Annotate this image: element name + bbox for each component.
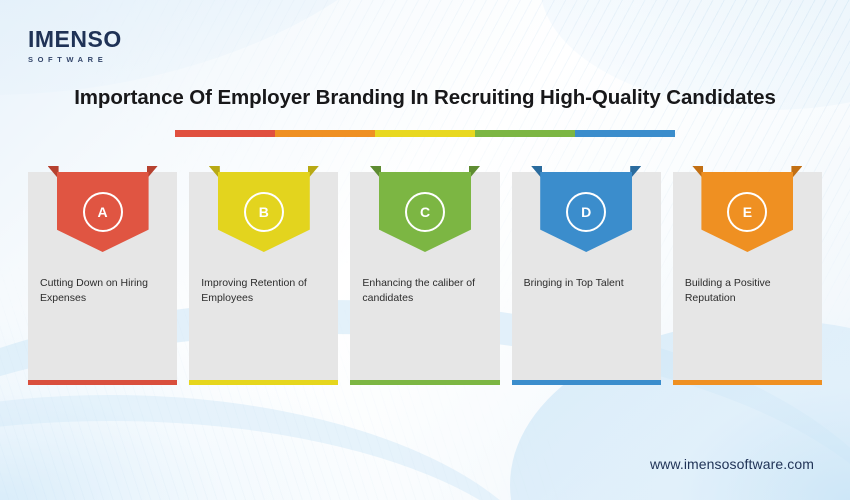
footer-website-url: www.imensosoftware.com bbox=[650, 456, 814, 472]
ribbon-banner-icon: B bbox=[218, 166, 310, 252]
divider-segment-4 bbox=[475, 130, 575, 137]
ribbon-banner-icon: D bbox=[540, 166, 632, 252]
card-accent-bar bbox=[512, 380, 661, 385]
ribbon-banner-icon: C bbox=[379, 166, 471, 252]
letter-badge-label: D bbox=[581, 205, 591, 219]
divider-segment-5 bbox=[575, 130, 675, 137]
card-d[interactable]: DBringing in Top Talent bbox=[512, 172, 661, 385]
divider-segment-1 bbox=[175, 130, 275, 137]
cards-row: ACutting Down on Hiring ExpensesBImprovi… bbox=[28, 172, 822, 385]
letter-badge-label: C bbox=[420, 205, 430, 219]
letter-badge: B bbox=[244, 192, 284, 232]
card-label: Building a Positive Reputation bbox=[673, 276, 822, 306]
ribbon-banner-icon: E bbox=[701, 166, 793, 252]
brand-logo-name: IMENSO bbox=[28, 28, 122, 51]
background-swoosh-bottom-left-2 bbox=[0, 395, 560, 500]
card-label: Improving Retention of Employees bbox=[189, 276, 338, 306]
card-accent-bar bbox=[28, 380, 177, 385]
card-label: Enhancing the caliber of candidates bbox=[350, 276, 499, 306]
ribbon-banner-icon: A bbox=[57, 166, 149, 252]
divider-segment-3 bbox=[375, 130, 475, 137]
page-title: Importance Of Employer Branding In Recru… bbox=[0, 86, 850, 110]
card-c[interactable]: CEnhancing the caliber of candidates bbox=[350, 172, 499, 385]
card-e[interactable]: EBuilding a Positive Reputation bbox=[673, 172, 822, 385]
card-a[interactable]: ACutting Down on Hiring Expenses bbox=[28, 172, 177, 385]
color-divider-bar bbox=[175, 130, 675, 137]
brand-logo-tagline: SOFTWARE bbox=[28, 56, 122, 64]
divider-segment-2 bbox=[275, 130, 375, 137]
letter-badge-label: A bbox=[98, 205, 108, 219]
letter-badge: D bbox=[566, 192, 606, 232]
brand-logo: IMENSO SOFTWARE bbox=[28, 28, 122, 64]
letter-badge: E bbox=[727, 192, 767, 232]
card-label: Cutting Down on Hiring Expenses bbox=[28, 276, 177, 306]
card-b[interactable]: BImproving Retention of Employees bbox=[189, 172, 338, 385]
card-accent-bar bbox=[189, 380, 338, 385]
letter-badge-label: E bbox=[743, 205, 752, 219]
card-accent-bar bbox=[673, 380, 822, 385]
letter-badge: A bbox=[83, 192, 123, 232]
letter-badge: C bbox=[405, 192, 445, 232]
letter-badge-label: B bbox=[259, 205, 269, 219]
card-label: Bringing in Top Talent bbox=[512, 276, 661, 291]
infographic-poster: IMENSO SOFTWARE Importance Of Employer B… bbox=[0, 0, 850, 500]
background-swoosh-top-left bbox=[0, 0, 475, 142]
card-accent-bar bbox=[350, 380, 499, 385]
